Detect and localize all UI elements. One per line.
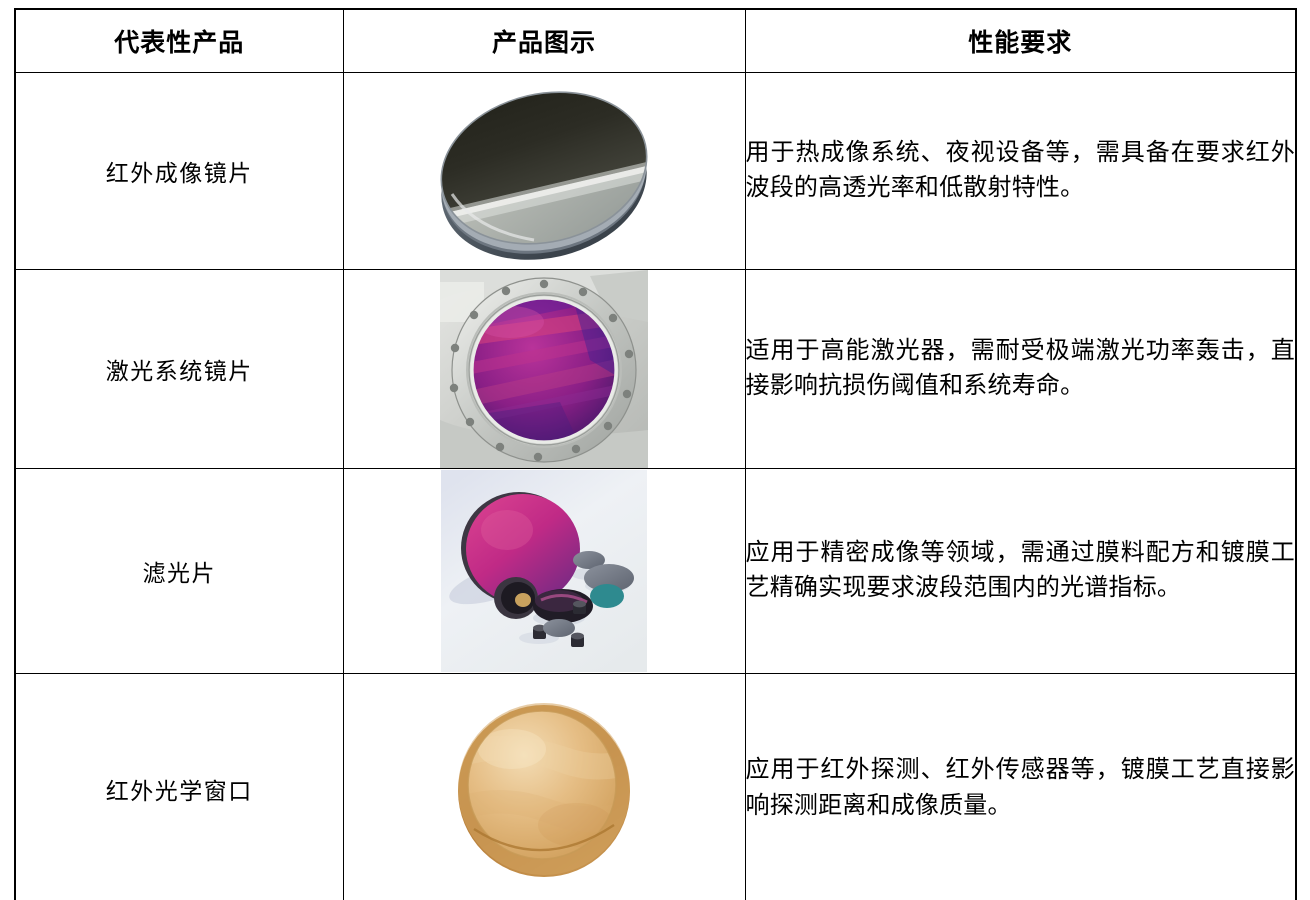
optical-filter-set-photo [441,470,647,672]
table-row: 红外光学窗口 [15,674,1296,900]
product-requirements-table: 代表性产品 产品图示 性能要求 红外成像镜片 [14,8,1297,900]
infrared-optical-window-photo [446,695,642,883]
product-image-cell [343,73,745,270]
requirement-cell: 适用于高能激光器，需耐受极端激光功率轰击，直接影响抗损伤阈值和系统寿命。 [745,270,1296,469]
table-row: 红外成像镜片 [15,73,1296,270]
product-name-cell: 红外光学窗口 [15,674,343,900]
requirement-cell: 应用于红外探测、红外传感器等，镀膜工艺直接影响探测距离和成像质量。 [745,674,1296,900]
requirement-cell: 用于热成像系统、夜视设备等，需具备在要求红外波段的高透光率和低散射特性。 [745,73,1296,270]
requirement-cell: 应用于精密成像等领域，需通过膜料配方和镀膜工艺精确实现要求波段范围内的光谱指标。 [745,469,1296,674]
column-header-image: 产品图示 [343,9,745,73]
product-name-cell: 红外成像镜片 [15,73,343,270]
column-header-requirement: 性能要求 [745,9,1296,73]
document-page: 代表性产品 产品图示 性能要求 红外成像镜片 [0,0,1310,900]
product-name-cell: 激光系统镜片 [15,270,343,469]
table-header-row: 代表性产品 产品图示 性能要求 [15,9,1296,73]
product-name-cell: 滤光片 [15,469,343,674]
table-row: 滤光片 [15,469,1296,674]
product-image-cell [343,270,745,469]
table-row: 激光系统镜片 [15,270,1296,469]
column-header-product: 代表性产品 [15,9,343,73]
infrared-imaging-lens-photo [430,76,658,266]
laser-system-optic-photo [440,270,648,468]
product-image-cell [343,469,745,674]
product-image-cell [343,674,745,900]
